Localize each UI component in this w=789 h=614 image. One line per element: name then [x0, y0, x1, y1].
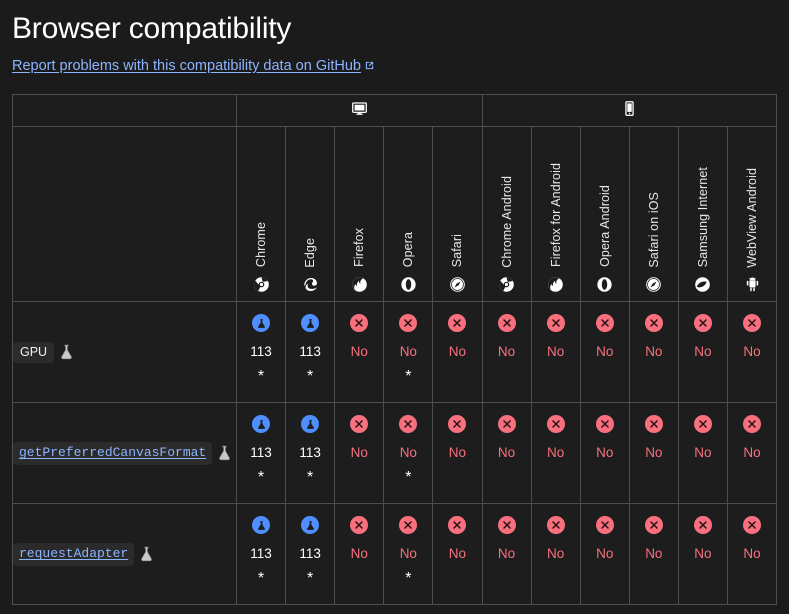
support-version-label: No: [449, 344, 466, 359]
support-cell[interactable]: No*: [531, 403, 580, 504]
x-icon: [645, 415, 663, 433]
support-cell[interactable]: No*: [384, 302, 433, 403]
table-row: getPreferredCanvasFormat113*113*No*No*No…: [13, 403, 777, 504]
support-version-label: No: [449, 445, 466, 460]
x-icon: [350, 314, 368, 332]
support-version-label: No: [449, 546, 466, 561]
x-icon: [645, 516, 663, 534]
x-icon: [743, 314, 761, 332]
support-version-label: No: [498, 344, 515, 359]
x-icon: [350, 415, 368, 433]
support-cell[interactable]: No*: [727, 403, 776, 504]
support-cell[interactable]: No*: [580, 302, 629, 403]
x-icon: [743, 516, 761, 534]
x-icon: [498, 415, 516, 433]
support-cell[interactable]: No*: [335, 302, 384, 403]
platform-group-desktop: [237, 95, 483, 127]
x-icon: [694, 516, 712, 534]
support-version-label: No: [498, 546, 515, 561]
support-version-label: No: [694, 344, 711, 359]
mobile-phone-icon: [621, 100, 638, 117]
browser-name-label: Chrome Android: [500, 176, 514, 268]
table-row: GPU113*113*No*No*No*No*No*No*No*No*No*: [13, 302, 777, 403]
android-webview-icon: [744, 276, 761, 293]
browser-name-label: Opera: [401, 232, 415, 267]
feature-link[interactable]: requestAdapter: [13, 543, 134, 565]
footnote-asterisk: *: [307, 470, 313, 488]
support-cell[interactable]: No*: [678, 302, 727, 403]
x-icon: [547, 314, 565, 332]
support-cell[interactable]: 113*: [237, 302, 286, 403]
support-cell[interactable]: No*: [678, 403, 727, 504]
firefox-icon: [547, 276, 564, 293]
support-version-label: No: [498, 445, 515, 460]
platform-group-mobile: [482, 95, 777, 127]
browser-header-firefox-for-android: Firefox for Android: [531, 127, 580, 302]
support-version-label: No: [547, 546, 564, 561]
support-version-label: No: [694, 445, 711, 460]
browser-name-label: Safari on iOS: [647, 192, 661, 268]
report-problems-link-label: Report problems with this compatibility …: [12, 58, 361, 74]
x-icon: [498, 516, 516, 534]
page-title: Browser compatibility: [12, 0, 777, 44]
x-icon: [448, 516, 466, 534]
x-icon: [596, 415, 614, 433]
feature-name-cell: GPU: [13, 302, 237, 403]
browser-header-edge: Edge: [286, 127, 335, 302]
support-cell[interactable]: 113*: [237, 504, 286, 605]
support-version-label: No: [400, 445, 417, 460]
compatibility-table: ChromeEdgeFirefoxOperaSafariChrome Andro…: [12, 94, 777, 605]
safari-icon: [645, 276, 662, 293]
flask-icon: [139, 546, 154, 562]
support-version-label: No: [596, 445, 613, 460]
support-version-label: No: [645, 445, 662, 460]
browser-name-label: Chrome: [254, 222, 268, 267]
support-cell[interactable]: No*: [384, 504, 433, 605]
x-icon: [596, 314, 614, 332]
flask-icon: [252, 516, 270, 534]
footnote-asterisk: *: [258, 470, 264, 488]
support-version-label: No: [743, 546, 760, 561]
browser-header-firefox: Firefox: [335, 127, 384, 302]
x-icon: [350, 516, 368, 534]
support-cell[interactable]: No*: [384, 403, 433, 504]
support-version-label: No: [743, 344, 760, 359]
x-icon: [694, 314, 712, 332]
support-cell[interactable]: No*: [335, 403, 384, 504]
browser-header-chrome: Chrome: [237, 127, 286, 302]
browser-name-label: Safari: [450, 234, 464, 267]
browser-header-row: ChromeEdgeFirefoxOperaSafariChrome Andro…: [13, 127, 777, 302]
support-version-label: No: [694, 546, 711, 561]
browser-name-label: Opera Android: [598, 185, 612, 267]
support-version-label: No: [547, 445, 564, 460]
platform-header-row: [13, 95, 777, 127]
chrome-icon: [498, 276, 515, 293]
safari-icon: [449, 276, 466, 293]
flask-icon: [217, 445, 232, 461]
browser-header-opera: Opera: [384, 127, 433, 302]
support-version-label: No: [596, 546, 613, 561]
support-version-label: 113: [250, 344, 272, 359]
desktop-monitor-icon: [351, 100, 368, 117]
x-icon: [448, 314, 466, 332]
support-cell[interactable]: 113*: [286, 302, 335, 403]
footnote-asterisk: *: [405, 571, 411, 589]
support-version-label: 113: [299, 546, 321, 561]
support-version-label: 113: [299, 344, 321, 359]
browser-header-safari-on-ios: Safari on iOS: [629, 127, 678, 302]
support-cell[interactable]: No*: [580, 403, 629, 504]
support-cell[interactable]: No*: [727, 504, 776, 605]
support-cell[interactable]: No*: [531, 504, 580, 605]
x-icon: [547, 516, 565, 534]
browser-name-label: Samsung Internet: [696, 167, 710, 267]
support-version-label: No: [645, 546, 662, 561]
support-version-label: 113: [250, 445, 272, 460]
flask-icon: [301, 516, 319, 534]
report-problems-line: Report problems with this compatibility …: [12, 58, 777, 76]
footnote-asterisk: *: [307, 369, 313, 387]
browser-compatibility-page: Browser compatibility Report problems wi…: [0, 0, 789, 614]
support-cell[interactable]: No*: [531, 302, 580, 403]
support-version-label: No: [743, 445, 760, 460]
footnote-asterisk: *: [258, 369, 264, 387]
support-cell[interactable]: No*: [433, 504, 482, 605]
browser-header-safari: Safari: [433, 127, 482, 302]
footnote-asterisk: *: [258, 571, 264, 589]
x-icon: [645, 314, 663, 332]
flask-icon: [252, 314, 270, 332]
browser-header-opera-android: Opera Android: [580, 127, 629, 302]
support-version-label: No: [351, 546, 368, 561]
support-cell[interactable]: No*: [580, 504, 629, 605]
x-icon: [547, 415, 565, 433]
support-cell[interactable]: No*: [629, 403, 678, 504]
browser-name-label: Firefox for Android: [549, 163, 563, 267]
flask-icon: [252, 415, 270, 433]
footnote-asterisk: *: [405, 369, 411, 387]
support-cell[interactable]: No*: [433, 302, 482, 403]
support-cell[interactable]: 113*: [237, 403, 286, 504]
x-icon: [399, 314, 417, 332]
support-cell[interactable]: 113*: [286, 504, 335, 605]
table-row: requestAdapter113*113*No*No*No*No*No*No*…: [13, 504, 777, 605]
compatibility-table-wrapper: ChromeEdgeFirefoxOperaSafariChrome Andro…: [12, 94, 777, 605]
support-version-label: No: [351, 344, 368, 359]
support-version-label: No: [645, 344, 662, 359]
browser-name-label: Firefox: [352, 228, 366, 267]
support-version-label: No: [596, 344, 613, 359]
feature-link: GPU: [13, 342, 54, 364]
support-cell[interactable]: No*: [727, 302, 776, 403]
support-cell[interactable]: 113*: [286, 403, 335, 504]
browser-header-chrome-android: Chrome Android: [482, 127, 531, 302]
browser-name-label: Edge: [303, 238, 317, 268]
support-cell[interactable]: No*: [629, 504, 678, 605]
samsung-internet-icon: [694, 276, 711, 293]
x-icon: [399, 516, 417, 534]
x-icon: [448, 415, 466, 433]
feature-link[interactable]: getPreferredCanvasFormat: [13, 442, 212, 464]
browser-name-label: WebView Android: [745, 168, 759, 268]
chrome-icon: [253, 276, 270, 293]
flask-icon: [301, 314, 319, 332]
browser-header-webview-android: WebView Android: [727, 127, 776, 302]
support-cell[interactable]: No*: [335, 504, 384, 605]
support-version-label: No: [547, 344, 564, 359]
support-version-label: No: [400, 546, 417, 561]
table-corner-cell: [13, 95, 237, 127]
support-cell[interactable]: No*: [482, 403, 531, 504]
x-icon: [743, 415, 761, 433]
browser-header-samsung-internet: Samsung Internet: [678, 127, 727, 302]
feature-column-header: [13, 127, 237, 302]
opera-icon: [400, 276, 417, 293]
flask-icon: [301, 415, 319, 433]
support-version-label: No: [400, 344, 417, 359]
x-icon: [399, 415, 417, 433]
flask-icon: [59, 344, 74, 360]
support-version-label: 113: [299, 445, 321, 460]
firefox-icon: [351, 276, 368, 293]
report-problems-link[interactable]: Report problems with this compatibility …: [12, 58, 361, 74]
support-cell[interactable]: No*: [629, 302, 678, 403]
edge-icon: [302, 276, 319, 293]
feature-name-cell: requestAdapter: [13, 504, 237, 605]
feature-name-cell: getPreferredCanvasFormat: [13, 403, 237, 504]
support-version-label: 113: [250, 546, 272, 561]
external-link-icon: [364, 59, 375, 76]
support-cell[interactable]: No*: [482, 302, 531, 403]
support-cell[interactable]: No*: [678, 504, 727, 605]
footnote-asterisk: *: [307, 571, 313, 589]
support-cell[interactable]: No*: [433, 403, 482, 504]
support-version-label: No: [351, 445, 368, 460]
x-icon: [596, 516, 614, 534]
footnote-asterisk: *: [405, 470, 411, 488]
x-icon: [694, 415, 712, 433]
x-icon: [498, 314, 516, 332]
support-cell[interactable]: No*: [482, 504, 531, 605]
opera-icon: [596, 276, 613, 293]
